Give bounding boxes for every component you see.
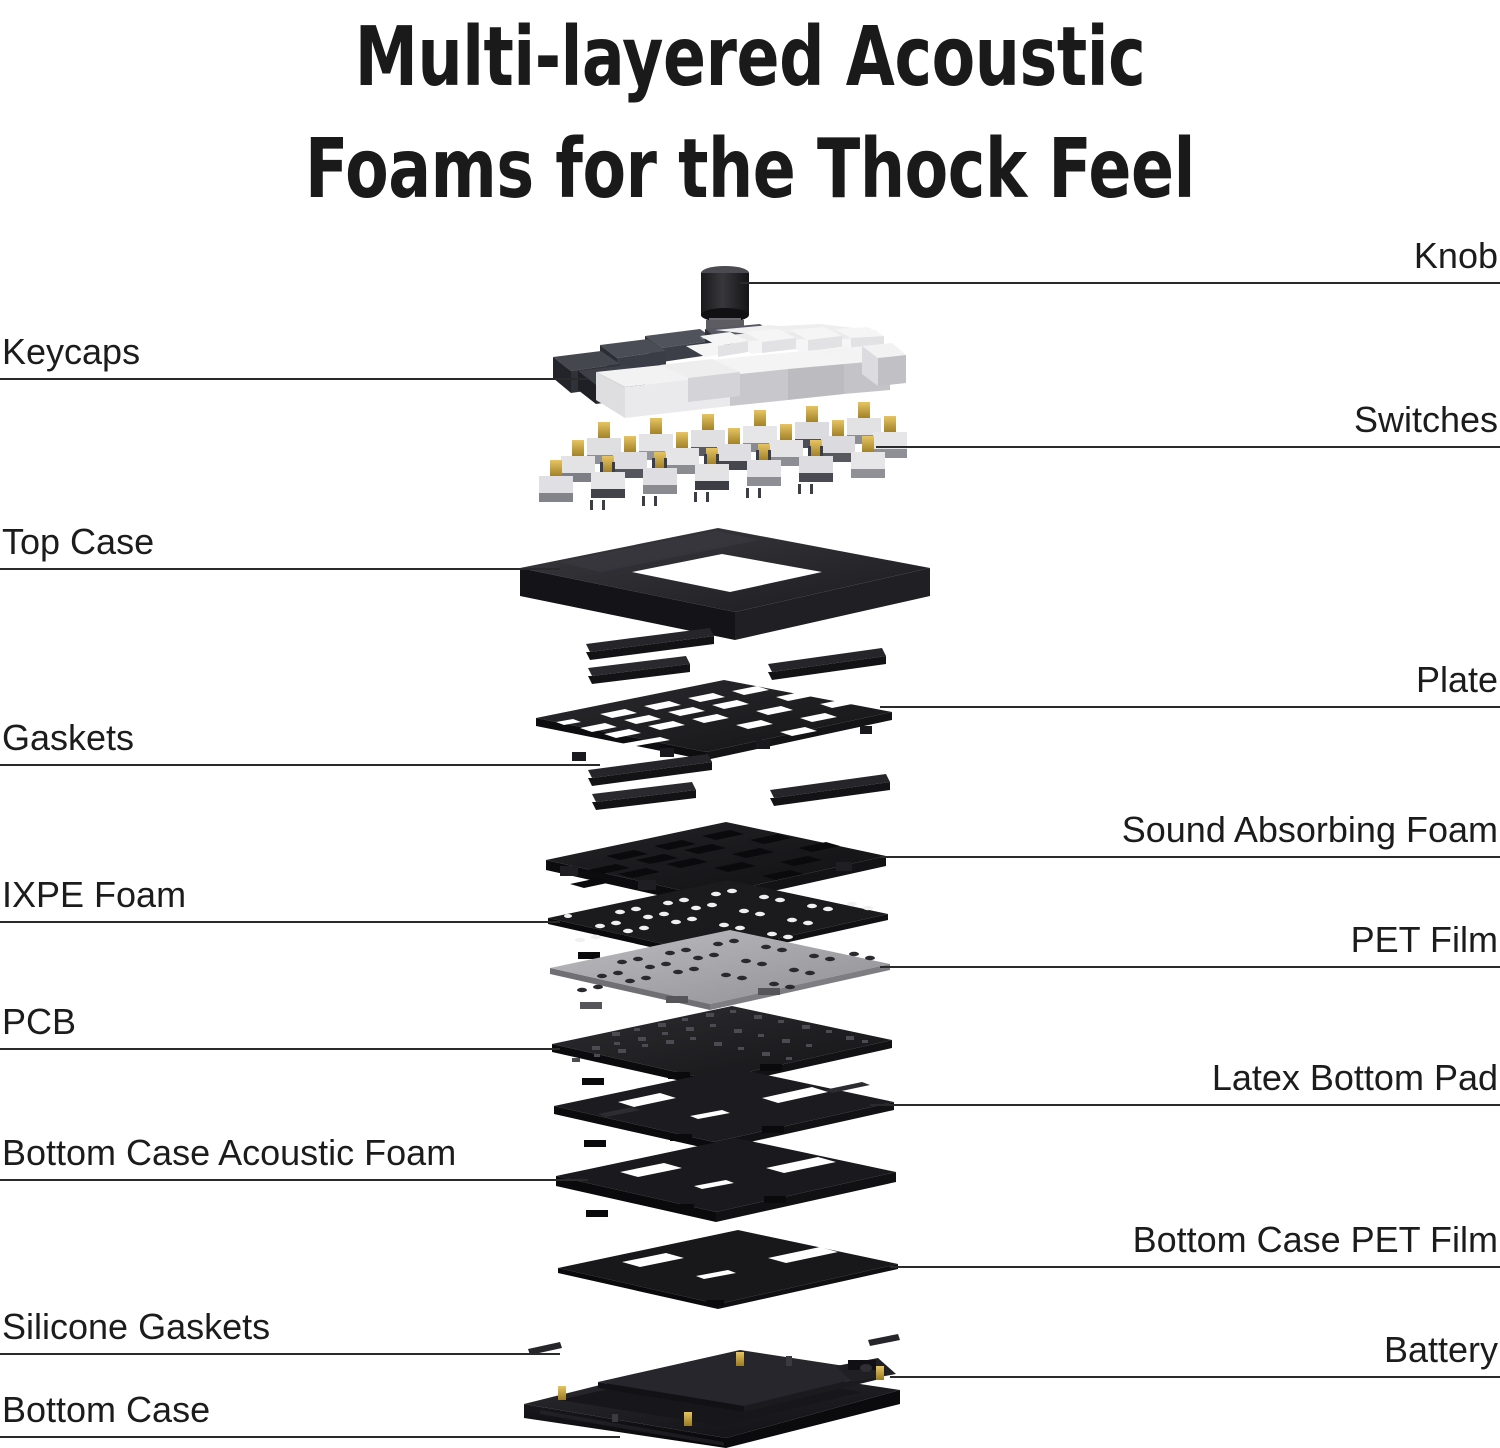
callout-silicone-gaskets: Silicone Gaskets (0, 1307, 560, 1355)
switches-component (539, 402, 907, 510)
callout-leader-line (890, 1266, 1500, 1268)
callout-leader-line (890, 1376, 1500, 1378)
callout-leader-line (740, 282, 1500, 284)
title-line-2: Foams for the Thock Feel (105, 114, 1395, 226)
callout-label: Bottom Case PET Film (890, 1220, 1500, 1266)
callout-keycaps: Keycaps (0, 332, 588, 380)
callout-sound-absorbing-foam: Sound Absorbing Foam (880, 810, 1500, 858)
callout-label: Latex Bottom Pad (870, 1058, 1500, 1104)
callout-top-case: Top Case (0, 522, 560, 570)
callout-bottom-case: Bottom Case (0, 1390, 620, 1438)
callout-label: Silicone Gaskets (0, 1307, 560, 1353)
callout-label: Battery (890, 1330, 1500, 1376)
callout-label: Switches (876, 400, 1500, 446)
top-case-component (520, 528, 930, 640)
bottom-case-pet-film-component (558, 1230, 898, 1309)
title-line-1: Multi-layered Acoustic (105, 2, 1395, 114)
callout-leader-line (0, 1436, 620, 1438)
callout-label: Keycaps (0, 332, 588, 378)
page-title: Multi-layered Acoustic Foams for the Tho… (0, 0, 1500, 226)
battery-component (598, 1350, 884, 1412)
callout-leader-line (880, 856, 1500, 858)
bottom-case-acoustic-foam-component (556, 1138, 896, 1222)
callout-leader-line (0, 1353, 560, 1355)
callout-label: Knob (740, 236, 1500, 282)
latex-bottom-pad-component (554, 1068, 894, 1150)
gaskets-lower-component (588, 754, 890, 810)
pet-film-component (550, 930, 890, 1010)
callout-leader-line (876, 446, 1500, 448)
gaskets-upper-component (586, 628, 886, 684)
callout-pcb: PCB (0, 1002, 560, 1050)
callout-switches: Switches (876, 400, 1500, 448)
callout-leader-line (0, 764, 600, 766)
callout-label: PCB (0, 1002, 560, 1048)
keycaps-component (553, 324, 906, 418)
callout-ixpe-foam: IXPE Foam (0, 875, 560, 923)
callout-gaskets: Gaskets (0, 718, 600, 766)
callout-label: Plate (880, 660, 1500, 706)
sound-absorbing-foam-component (546, 822, 886, 906)
callout-plate: Plate (880, 660, 1500, 708)
callout-leader-line (0, 1048, 560, 1050)
callout-label: Bottom Case Acoustic Foam (0, 1133, 588, 1179)
callout-leader-line (870, 1104, 1500, 1106)
callout-leader-line (0, 378, 588, 380)
callout-pet-film: PET Film (880, 920, 1500, 968)
callout-latex-bottom-pad: Latex Bottom Pad (870, 1058, 1500, 1106)
callout-knob: Knob (740, 236, 1500, 284)
callout-label: Bottom Case (0, 1390, 620, 1436)
callout-label: Top Case (0, 522, 560, 568)
callout-label: Gaskets (0, 718, 600, 764)
callout-label: IXPE Foam (0, 875, 560, 921)
callout-leader-line (0, 568, 560, 570)
callout-battery: Battery (890, 1330, 1500, 1378)
ixpe-foam-component (548, 880, 888, 960)
callout-leader-line (880, 966, 1500, 968)
callout-leader-line (0, 921, 560, 923)
callout-label: PET Film (880, 920, 1500, 966)
callout-leader-line (0, 1179, 588, 1181)
silicone-gaskets-component (528, 1334, 900, 1355)
callout-label: Sound Absorbing Foam (880, 810, 1500, 856)
callout-bottom-case-acoustic-foam: Bottom Case Acoustic Foam (0, 1133, 588, 1181)
callout-leader-line (880, 706, 1500, 708)
callout-bottom-case-pet-film: Bottom Case PET Film (890, 1220, 1500, 1268)
pcb-component (552, 1006, 892, 1088)
